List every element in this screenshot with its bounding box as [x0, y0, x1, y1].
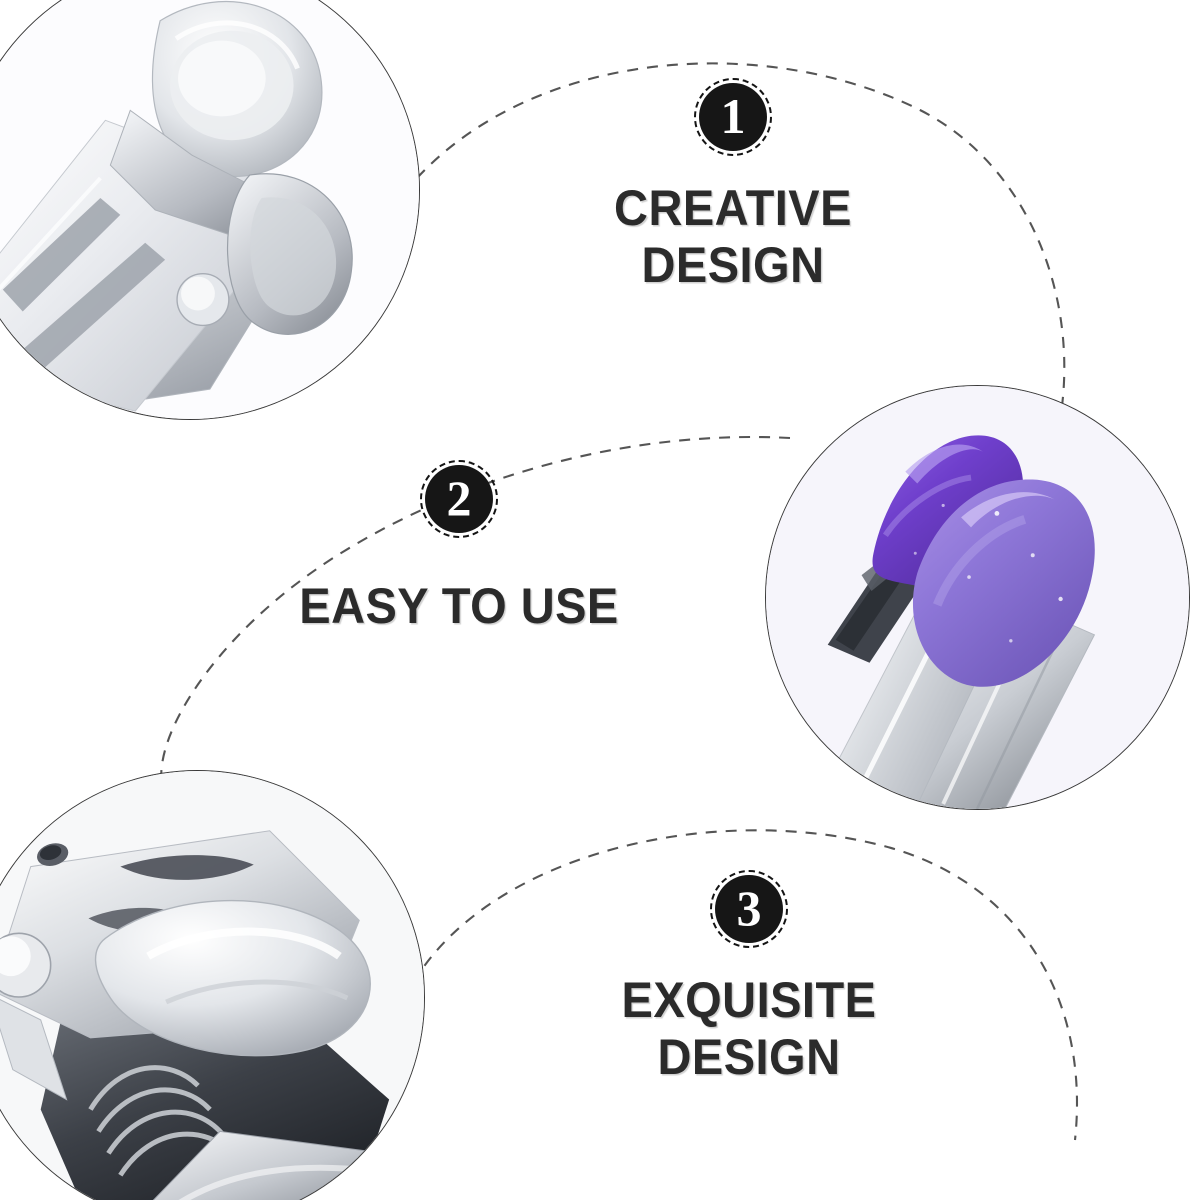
badge-number-1: 1	[699, 83, 767, 151]
feature-badge-1: 1	[694, 78, 772, 156]
feature-photo-1	[0, 0, 420, 420]
feature-photo-3	[0, 770, 425, 1200]
feature-photo-2	[765, 385, 1190, 810]
feature-heading-2: EASY TO USE	[271, 578, 647, 635]
feature-heading-1: CREATIVE DESIGN	[545, 180, 921, 294]
badge-number-2: 2	[425, 465, 493, 533]
infographic-canvas: 1 CREATIVE DESIGN	[0, 0, 1200, 1200]
clipper-purple-tip-closeup-art	[766, 386, 1189, 809]
feature-badge-3: 3	[710, 870, 788, 948]
clipper-spring-mechanism-closeup-art	[0, 771, 424, 1200]
badge-number-3: 3	[715, 875, 783, 943]
feature-badge-2: 2	[420, 460, 498, 538]
clipper-lever-closeup-art	[0, 0, 419, 419]
feature-heading-3: EXQUISITE DESIGN	[561, 972, 937, 1086]
